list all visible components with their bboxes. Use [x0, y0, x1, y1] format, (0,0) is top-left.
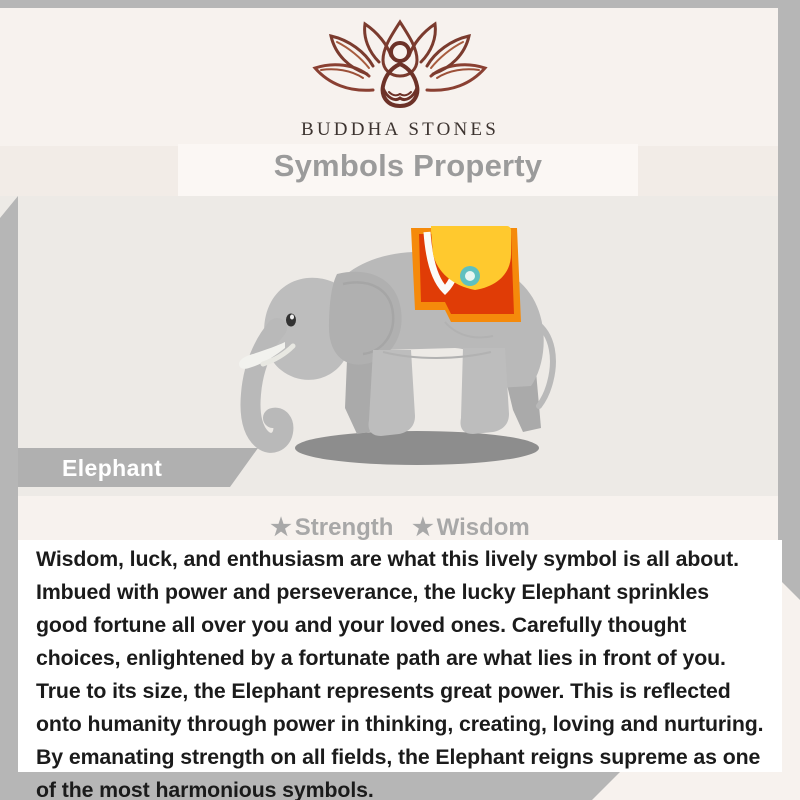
attribute-strength-label: Strength	[295, 514, 394, 541]
attribute-strength: ★Strength	[270, 514, 393, 541]
attribute-wisdom: ★Wisdom	[412, 514, 530, 541]
brand-name: BUDDHA STONES	[0, 119, 800, 141]
lotus-meditation-icon	[0, 18, 800, 113]
walking-elephant-illustration	[205, 210, 605, 480]
star-icon: ★	[270, 514, 292, 541]
attribute-wisdom-label: Wisdom	[437, 514, 530, 541]
symbol-description: Wisdom, luck, and enthusiasm are what th…	[36, 543, 764, 800]
symbol-name-label: Elephant	[62, 455, 162, 482]
star-icon: ★	[412, 514, 434, 541]
symbol-property-poster: BUDDHA STONES Symbols Property	[0, 0, 800, 800]
symbol-attributes: ★Strength ★Wisdom	[18, 513, 782, 542]
page-title: Symbols Property	[178, 148, 638, 184]
frame-left-bar	[0, 196, 18, 800]
frame-top-bar	[0, 0, 800, 8]
brand-logo: BUDDHA STONES	[0, 18, 800, 141]
